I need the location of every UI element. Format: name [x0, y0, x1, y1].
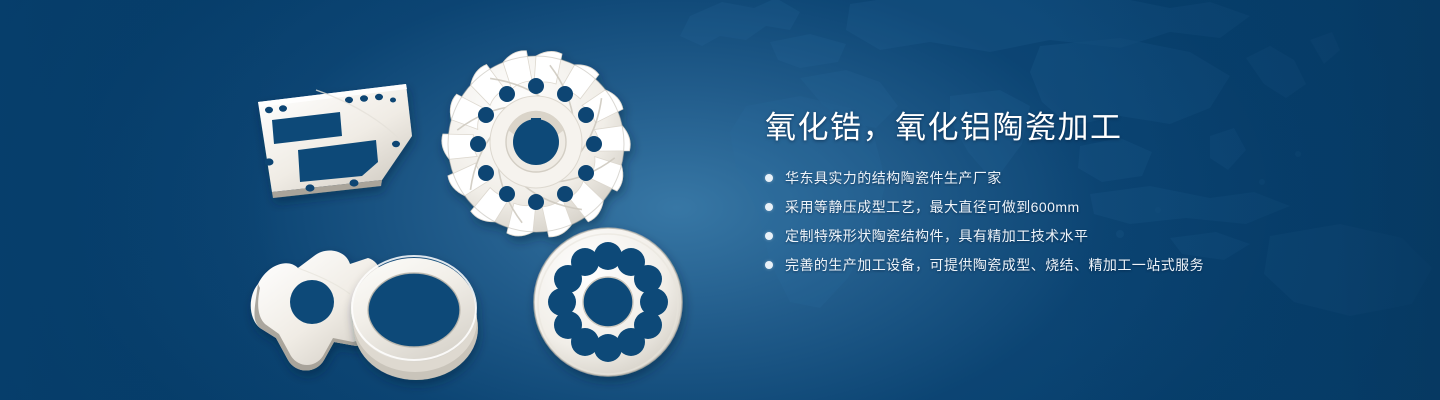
bullet-dot-icon [765, 203, 773, 211]
ceramic-impeller-disc [440, 48, 632, 239]
list-item: 华东具实力的结构陶瓷件生产厂家 [765, 170, 1385, 186]
list-item: 完善的生产加工设备，可提供陶瓷成型、烧结、精加工一站式服务 [765, 257, 1385, 273]
ceramic-rings-stack [352, 256, 478, 380]
bullet-dot-icon [765, 174, 773, 182]
bullet-dot-icon [765, 261, 773, 269]
feature-text: 定制特殊形状陶瓷结构件，具有精加工技术水平 [785, 228, 1088, 244]
banner-copy: 氧化锆，氧化铝陶瓷加工 华东具实力的结构陶瓷件生产厂家 采用等静压成型工艺，最大… [765, 108, 1385, 273]
feature-list: 华东具实力的结构陶瓷件生产厂家 采用等静压成型工艺，最大直径可做到600mm 定… [765, 170, 1385, 273]
feature-text: 完善的生产加工设备，可提供陶瓷成型、烧结、精加工一站式服务 [785, 257, 1204, 273]
ceramic-perforated-disc [534, 228, 682, 376]
hero-banner: 氧化锆，氧化铝陶瓷加工 华东具实力的结构陶瓷件生产厂家 采用等静压成型工艺，最大… [0, 0, 1440, 400]
ceramic-products-image [236, 40, 696, 380]
list-item: 采用等静压成型工艺，最大直径可做到600mm [765, 199, 1385, 215]
list-item: 定制特殊形状陶瓷结构件，具有精加工技术水平 [765, 228, 1385, 244]
feature-text: 采用等静压成型工艺，最大直径可做到600mm [785, 199, 1080, 215]
feature-text: 华东具实力的结构陶瓷件生产厂家 [785, 170, 1002, 186]
page-title: 氧化锆，氧化铝陶瓷加工 [765, 108, 1385, 148]
ceramic-plate-with-cutouts [258, 84, 412, 198]
bullet-dot-icon [765, 232, 773, 240]
